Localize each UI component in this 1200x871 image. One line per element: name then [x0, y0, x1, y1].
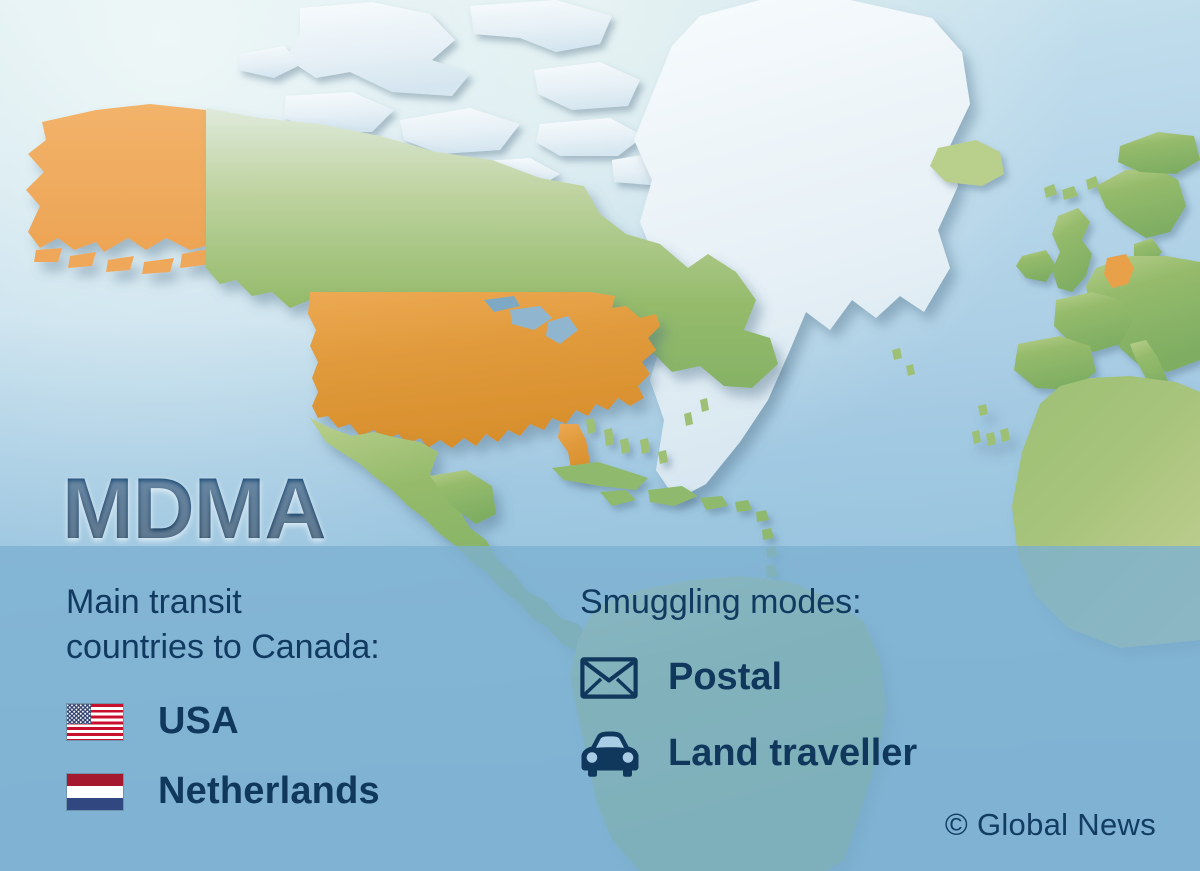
country-label: USA [158, 700, 239, 743]
list-item: USA [66, 692, 536, 752]
country-label: Netherlands [158, 770, 380, 813]
page-title: MDMA [62, 466, 326, 552]
copyright-credit: © Global News [945, 807, 1156, 843]
smuggling-modes-list: Postal Land traveller [580, 647, 1100, 785]
mode-label: Postal [668, 656, 782, 699]
infographic-canvas: MDMA Main transit countries to Canada: U… [0, 0, 1200, 871]
car-icon [580, 731, 642, 777]
flag-usa-icon [66, 703, 124, 741]
list-item: Land traveller [580, 723, 1100, 785]
list-item: Postal [580, 647, 1100, 709]
list-item: Netherlands [66, 762, 536, 822]
smuggling-modes-section: Smuggling modes: Postal [580, 580, 1100, 785]
greenland [634, 0, 970, 500]
transit-countries-section: Main transit countries to Canada: USA Ne… [66, 580, 536, 822]
smuggling-modes-heading: Smuggling modes: [580, 580, 1100, 625]
transit-countries-list: USA Netherlands [66, 692, 536, 822]
transit-countries-heading: Main transit countries to Canada: [66, 580, 536, 670]
mode-label: Land traveller [668, 732, 917, 775]
envelope-icon [580, 657, 642, 699]
europe [1014, 132, 1200, 398]
flag-netherlands-icon [66, 773, 124, 811]
